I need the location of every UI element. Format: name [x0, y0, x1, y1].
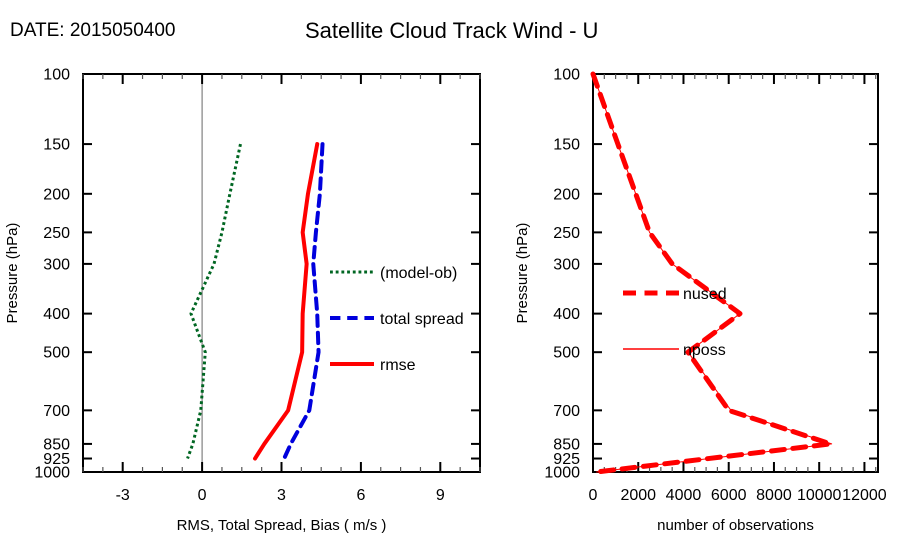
x-tick-labels: -30369 [116, 487, 445, 504]
x-tick-label: 3 [277, 487, 286, 504]
y-tick-label: 500 [43, 345, 70, 362]
x-axis-label: number of observations [657, 517, 814, 534]
y-tick-label: 400 [43, 306, 70, 323]
legend: (model-ob)total spreadrmse [330, 265, 464, 374]
left-panel: 1001502002503004005007008509251000 -3036… [4, 67, 480, 535]
series-nused [593, 74, 831, 472]
y-tick-label: 150 [553, 137, 580, 154]
data-series-group [188, 144, 323, 458]
y-tick-label: 150 [43, 137, 70, 154]
legend-label: total spread [380, 311, 464, 328]
x-tick-label: 9 [436, 487, 445, 504]
y-tick-label: 300 [553, 256, 580, 273]
y-axis-label: Pressure (hPa) [4, 223, 21, 324]
y-tick-labels: 1001502002503004005007008509251000 [544, 67, 580, 482]
x-tick-label: 2000 [620, 487, 656, 504]
x-axis-label: RMS, Total Spread, Bias ( m/s ) [177, 517, 387, 534]
y-tick-label: 1000 [34, 465, 70, 482]
y-tick-label: 1000 [544, 465, 580, 482]
x-tick-labels: 020004000600080001000012000 [589, 487, 887, 504]
series-modelob [188, 144, 241, 458]
x-tick-label: 8000 [756, 487, 792, 504]
y-tick-label: 100 [43, 67, 70, 84]
x-tick-label: 4000 [666, 487, 702, 504]
y-tick-label: 200 [553, 186, 580, 203]
y-tick-label: 700 [43, 403, 70, 420]
x-tick-label: 12000 [842, 487, 887, 504]
y-tick-label: 250 [43, 225, 70, 242]
x-tick-label: 6 [356, 487, 365, 504]
right-panel: 1001502002503004005007008509251000 02000… [514, 67, 887, 535]
legend-label: nused [683, 286, 727, 303]
data-series-group [593, 74, 832, 472]
x-tick-label: 10000 [797, 487, 842, 504]
y-axis-label: Pressure (hPa) [514, 223, 531, 324]
legend-label: rmse [380, 357, 416, 374]
legend-label: (model-ob) [380, 265, 457, 282]
y-tick-label: 400 [553, 306, 580, 323]
figure-canvas: 1001502002503004005007008509251000 -3036… [0, 0, 900, 560]
y-tick-label: 500 [553, 345, 580, 362]
x-tick-label: 6000 [711, 487, 747, 504]
y-tick-labels: 1001502002503004005007008509251000 [34, 67, 70, 482]
y-tick-label: 100 [553, 67, 580, 84]
y-tick-label: 200 [43, 186, 70, 203]
legend-label: nposs [683, 342, 726, 359]
x-tick-label: 0 [589, 487, 598, 504]
series-nposs [593, 74, 832, 472]
x-tick-label: -3 [116, 487, 130, 504]
y-tick-label: 250 [553, 225, 580, 242]
legend: nusednposs [623, 286, 727, 359]
x-tick-label: 0 [198, 487, 207, 504]
y-tick-label: 700 [553, 403, 580, 420]
y-tick-label: 300 [43, 256, 70, 273]
